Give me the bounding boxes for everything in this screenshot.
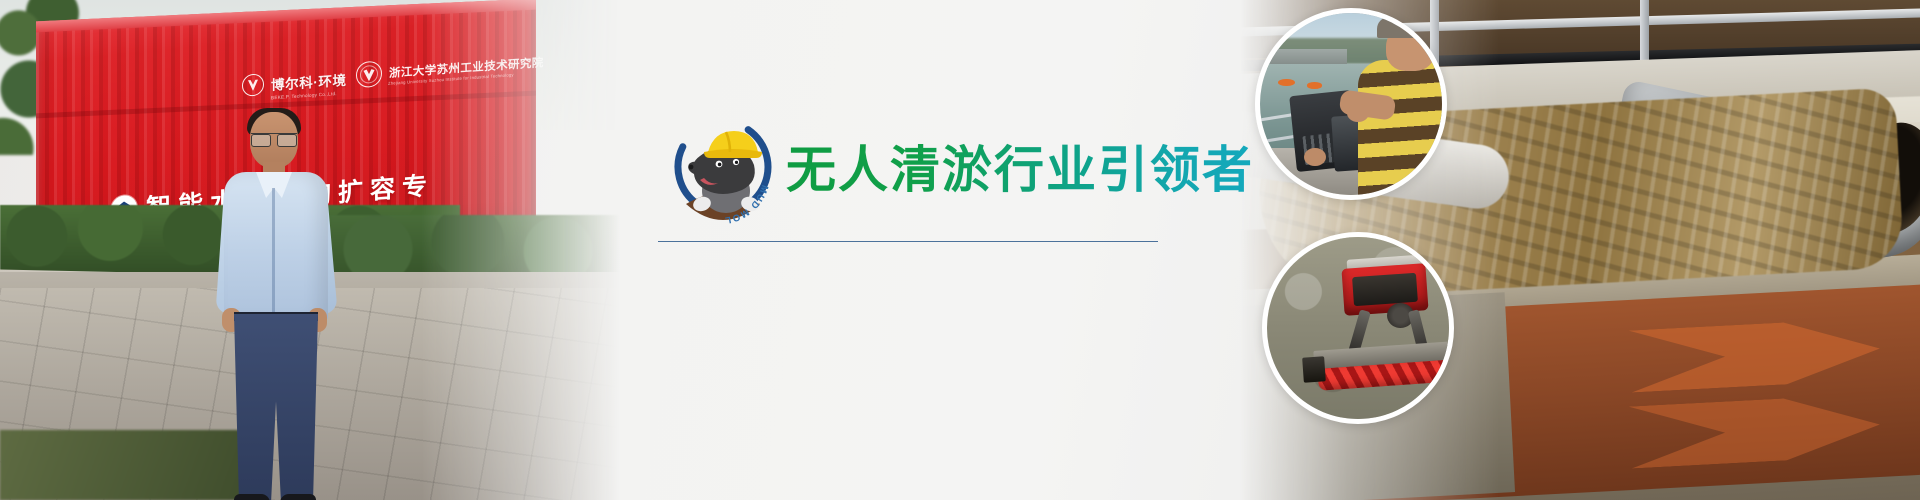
university-seal-icon: [356, 60, 382, 88]
eyeglasses-icon: [251, 133, 297, 145]
figure-trousers: [234, 314, 318, 500]
operator-hand-left: [1304, 148, 1326, 166]
left-container-photo: 博尔科·环境 BEKE.P. Technology Co.,Ltd. 浙江大学苏…: [0, 0, 620, 500]
brand-mark-icon: [242, 73, 264, 96]
mud-mole-logo: MUD MOLE: [664, 108, 782, 226]
robot-hull: [1342, 263, 1429, 316]
engineer-figure: [218, 112, 338, 500]
float-buoy-2: [1307, 82, 1322, 88]
figure-right-shoe: [280, 494, 316, 500]
auger-end-gearbox: [1303, 356, 1327, 383]
center-content: MUD MOLE 无人清淤行业引领者: [636, 0, 1196, 500]
figure-shirt: [224, 172, 328, 322]
headline-text: 无人清淤行业引领者: [786, 130, 1254, 202]
float-buoy-1: [1278, 79, 1294, 86]
headline-divider: [658, 241, 1158, 242]
grass-strip: [0, 430, 250, 500]
hero-banner: 博尔科·环境 BEKE.P. Technology Co.,Ltd. 浙江大学苏…: [0, 0, 1920, 500]
figure-shirt-placket: [272, 188, 275, 318]
operator-torso: [1358, 60, 1447, 195]
operator-console-photo: [1255, 8, 1447, 200]
figure-left-shoe: [234, 494, 270, 500]
dredging-robot-photo: [1262, 232, 1454, 424]
operator-cap: [1377, 17, 1439, 39]
